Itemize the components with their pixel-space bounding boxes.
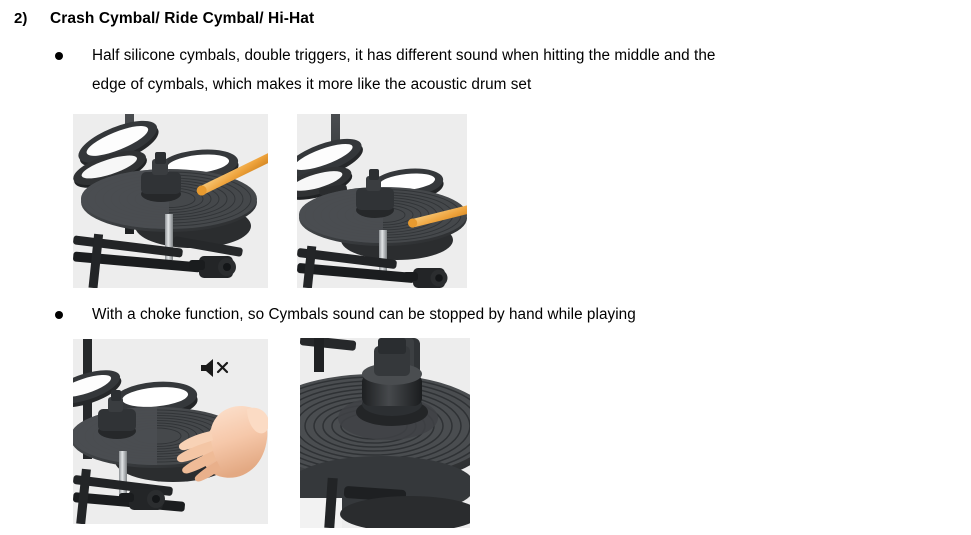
bullet-line-primary: With a choke function, so Cymbals sound … (0, 300, 900, 329)
bullet-item-1: Half silicone cymbals, double triggers, … (0, 41, 900, 99)
cymbal-choke-illustration (73, 339, 268, 524)
bullet-item-2: With a choke function, so Cymbals sound … (0, 300, 900, 329)
figure-cymbal-choke-by-hand (73, 339, 268, 524)
figure-cymbal-struck-edge (297, 114, 467, 288)
cymbal-closeup-illustration (300, 338, 470, 528)
section-heading: 2) Crash Cymbal/ Ride Cymbal/ Hi-Hat (0, 6, 971, 32)
bullet-line-primary: Half silicone cymbals, double triggers, … (0, 41, 900, 70)
bullet-dot-icon (55, 311, 63, 319)
figure-cymbal-closeup (300, 338, 470, 528)
cymbal-struck-middle-illustration (73, 114, 268, 288)
speaker-mute-badge (199, 357, 233, 379)
bullet-text-line-1: Half silicone cymbals, double triggers, … (92, 41, 715, 70)
speaker-mute-icon (199, 357, 233, 379)
section-number: 2) (0, 6, 50, 32)
cymbal-struck-edge-illustration (297, 114, 467, 288)
figure-cymbal-struck-middle (73, 114, 268, 288)
bullet-text-line-2: edge of cymbals, which makes it more lik… (0, 70, 900, 99)
bullet-marker (0, 300, 92, 329)
page-title: Crash Cymbal/ Ride Cymbal/ Hi-Hat (50, 6, 314, 32)
bullet-text-line-1: With a choke function, so Cymbals sound … (92, 300, 636, 329)
bullet-dot-icon (55, 52, 63, 60)
bullet-marker (0, 41, 92, 70)
